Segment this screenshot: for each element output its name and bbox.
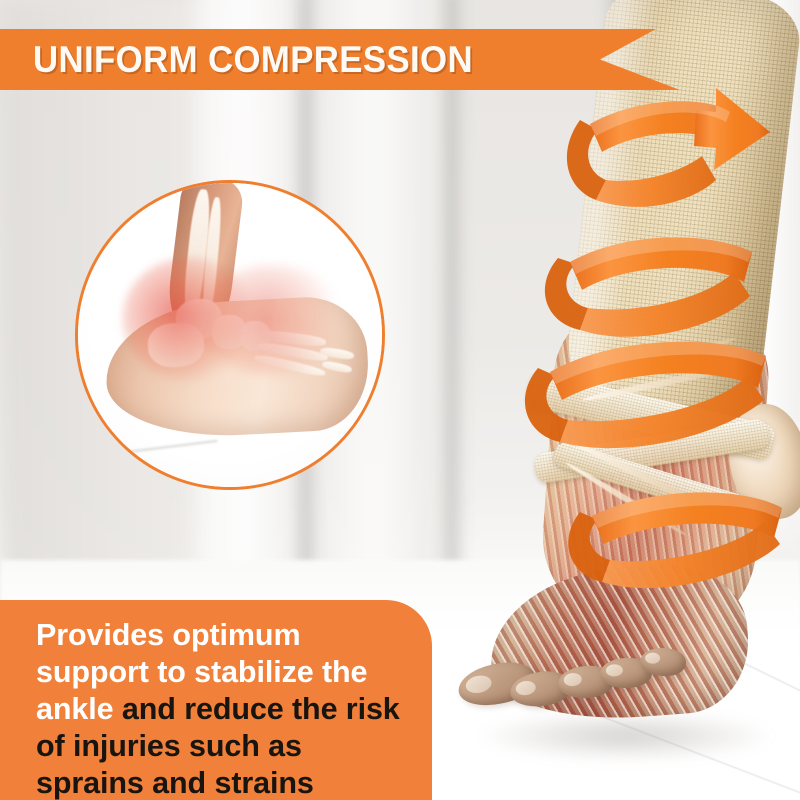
ankle-xray-inset xyxy=(75,180,385,490)
bandaged-leg-illustration xyxy=(430,0,800,800)
toenail xyxy=(606,664,623,677)
toenail xyxy=(464,673,493,695)
header-banner: UNIFORM COMPRESSION xyxy=(0,29,680,90)
benefit-copy-text: Provides optimum support to stabilize th… xyxy=(36,617,416,800)
foot xyxy=(448,560,768,760)
toenail xyxy=(515,680,537,697)
product-marketing-image: UNIFORM COMPRESSION Provides optimum sup… xyxy=(0,0,800,800)
inflammation-highlight xyxy=(198,265,348,375)
copy-line-2-black: and xyxy=(122,692,176,726)
foot-shadow xyxy=(476,710,776,762)
benefit-copy-panel: Provides optimum support to stabilize th… xyxy=(0,600,432,800)
toenail xyxy=(563,672,582,687)
toenail xyxy=(645,652,660,664)
page-title: UNIFORM COMPRESSION xyxy=(33,29,473,90)
